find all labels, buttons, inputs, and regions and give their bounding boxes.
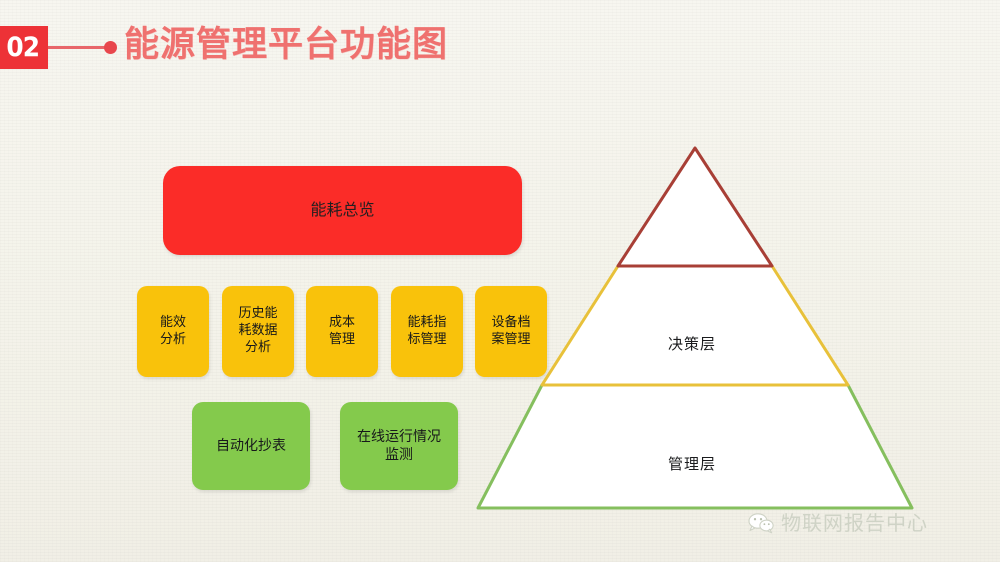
function-box-label: 能耗指标管理: [407, 315, 446, 349]
function-box-auto-meter-reading[interactable]: 自动化抄表: [192, 402, 310, 490]
watermark: 物联网报告中心: [748, 512, 928, 534]
header-connector-dot-icon: [104, 41, 117, 54]
hierarchy-pyramid: 决策层 管理层 操作层: [455, 135, 935, 530]
section-number-badge: 02: [0, 26, 48, 69]
pyramid-label-decision: 决策层: [612, 333, 772, 354]
page-title: 能源管理平台功能图: [124, 24, 448, 68]
function-box-energy-efficiency[interactable]: 能效分析: [137, 286, 209, 377]
function-box-label: 自动化抄表: [216, 437, 286, 455]
function-box-label: 成本管理: [329, 315, 355, 349]
function-box-label: 历史能耗数据分析: [238, 306, 277, 357]
slide-canvas: 02 能源管理平台功能图 能耗总览 能效分析 历史能耗数据分析 成本管理 能耗指…: [0, 0, 1000, 562]
section-number-text: 02: [7, 34, 40, 61]
header-connector-line: [48, 46, 110, 49]
pyramid-layer-middle-shape: [542, 266, 848, 385]
function-box-label: 在线运行情况监测: [357, 428, 441, 464]
function-box-history-data[interactable]: 历史能耗数据分析: [222, 286, 294, 377]
watermark-text: 物联网报告中心: [781, 513, 928, 533]
function-box-online-monitoring[interactable]: 在线运行情况监测: [340, 402, 458, 490]
wechat-icon: [748, 512, 774, 534]
function-box-cost-management[interactable]: 成本管理: [306, 286, 378, 377]
function-box-overview-label: 能耗总览: [310, 200, 374, 221]
pyramid-label-management: 管理层: [612, 453, 772, 474]
function-box-energy-index[interactable]: 能耗指标管理: [391, 286, 463, 377]
pyramid-layer-top-shape: [618, 148, 772, 266]
pyramid-layer-bottom-shape: [478, 385, 912, 508]
function-box-label: 能效分析: [160, 315, 186, 349]
